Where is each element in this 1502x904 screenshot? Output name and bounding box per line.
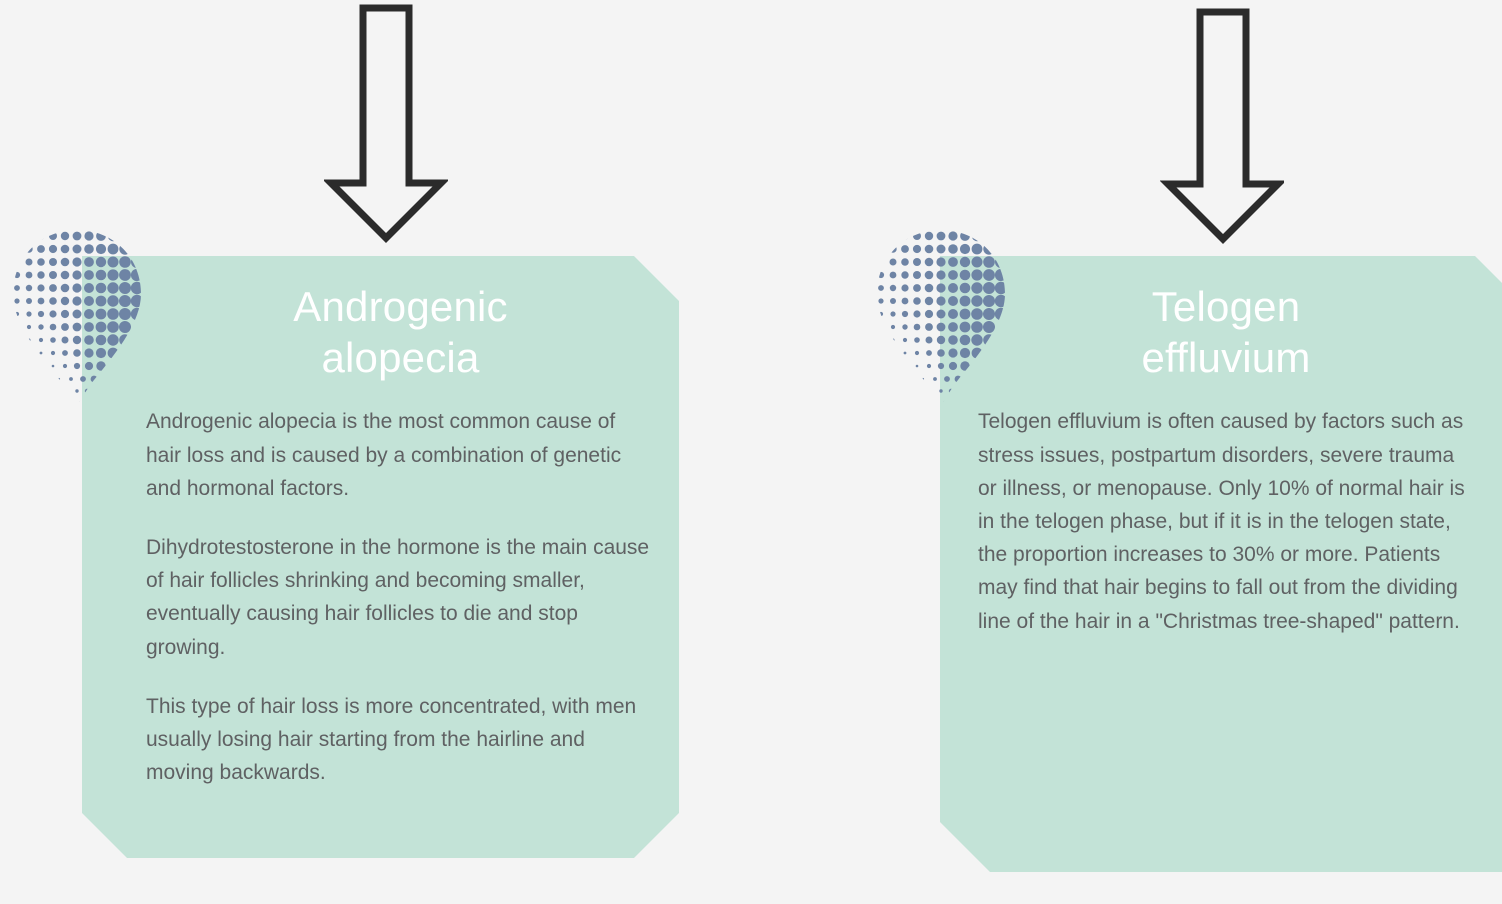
card-paragraph: This type of hair loss is more concentra… bbox=[146, 690, 653, 790]
card-title-telogen-effluvium: Telogen effluvium bbox=[940, 281, 1502, 383]
card-telogen-effluvium: Telogen effluvium Telogen effluvium is o… bbox=[940, 256, 1502, 872]
card-body-telogen-effluvium: Telogen effluvium is often caused by fac… bbox=[940, 383, 1502, 637]
card-paragraph: Dihydrotestosterone in the hormone is th… bbox=[146, 531, 653, 664]
card-title-androgenic-alopecia: Androgenic alopecia bbox=[82, 281, 679, 383]
card-paragraph: Androgenic alopecia is the most common c… bbox=[146, 405, 653, 505]
card-androgenic-alopecia: Androgenic alopecia Androgenic alopecia … bbox=[82, 256, 679, 858]
infographic-canvas: Androgenic alopecia Androgenic alopecia … bbox=[0, 0, 1502, 904]
card-body-androgenic-alopecia: Androgenic alopecia is the most common c… bbox=[82, 383, 679, 789]
arrow-down-card-2 bbox=[1160, 8, 1284, 244]
halftone-pin-card-2 bbox=[872, 228, 1010, 408]
card-paragraph: Telogen effluvium is often caused by fac… bbox=[978, 405, 1476, 637]
halftone-pin-card-1 bbox=[8, 228, 146, 408]
arrow-down-card-1 bbox=[324, 4, 448, 244]
